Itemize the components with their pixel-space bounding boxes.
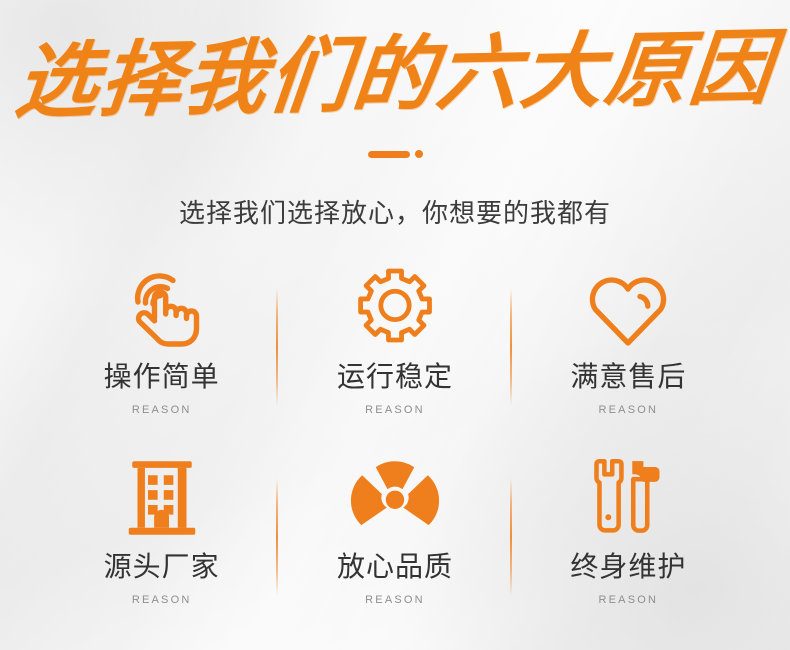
reason-item-1: 操作简单 REASON: [45, 262, 278, 452]
touch-hand-icon: [118, 262, 206, 354]
reason-subtext: REASON: [132, 404, 192, 416]
reason-label: 放心品质: [337, 552, 453, 583]
reason-item-3: 满意售后 REASON: [512, 262, 745, 452]
reason-label: 满意售后: [570, 362, 686, 393]
reason-item-5: 放心品质 REASON: [278, 452, 511, 642]
reason-label: 操作简单: [104, 362, 220, 393]
factory-building-icon: [118, 452, 206, 544]
reason-subtext: REASON: [598, 594, 658, 606]
reason-subtext: REASON: [365, 404, 425, 416]
reason-label: 终身维护: [570, 552, 686, 583]
reason-item-2: 运行稳定 REASON: [278, 262, 511, 452]
wrench-hammer-icon: [582, 452, 674, 544]
page-title-text: 选择我们的六大原因: [12, 27, 778, 123]
heart-icon: [582, 262, 674, 354]
page-subtitle: 选择我们选择放心，你想要的我都有: [0, 198, 790, 229]
title-divider: [0, 150, 790, 158]
gear-icon: [352, 262, 438, 354]
reason-label: 源头厂家: [104, 552, 220, 583]
promo-banner: 选择我们的六大原因 选择我们选择放心，你想要的我都有: [0, 0, 790, 650]
divider-dot-icon: [415, 150, 423, 158]
page-title: 选择我们的六大原因: [0, 34, 790, 116]
reason-subtext: REASON: [132, 594, 192, 606]
reason-subtext: REASON: [365, 594, 425, 606]
reason-item-4: 源头厂家 REASON: [45, 452, 278, 642]
reason-item-6: 终身维护 REASON: [512, 452, 745, 642]
reason-subtext: REASON: [598, 404, 658, 416]
reason-label: 运行稳定: [337, 362, 453, 393]
radiation-quality-icon: [351, 452, 439, 544]
divider-bar: [368, 151, 410, 158]
reasons-grid: 操作简单 REASON 运行稳定 REASON: [45, 262, 745, 642]
